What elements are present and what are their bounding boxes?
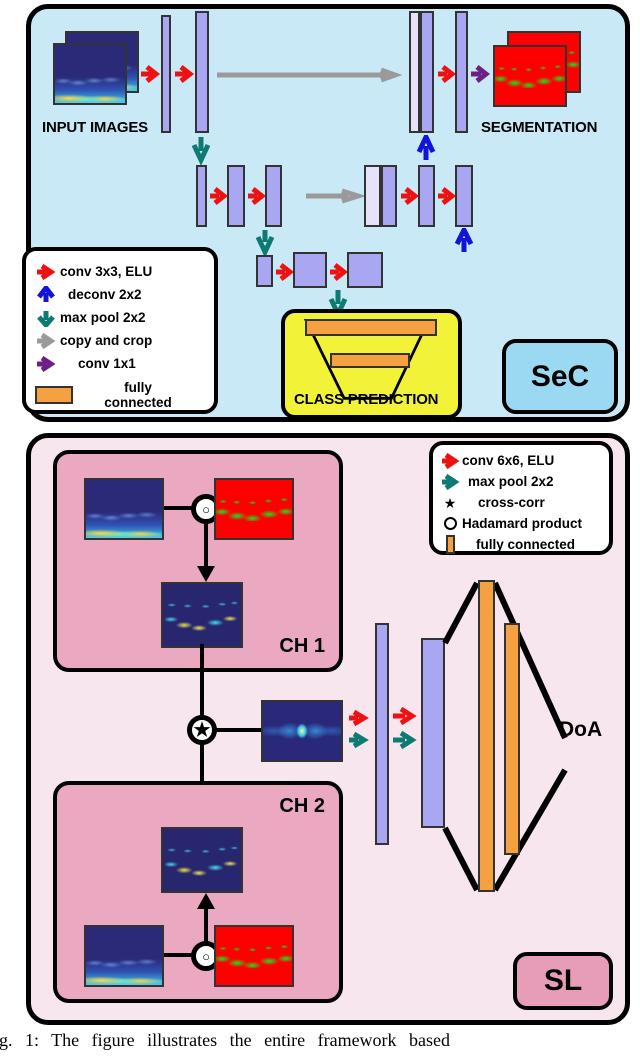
sl-conv-arrow-2 bbox=[391, 706, 421, 756]
channel-1-label: CH 1 bbox=[279, 635, 325, 658]
teal-arrow-right-icon bbox=[438, 474, 462, 490]
sec-legend: conv 3x3, ELU deconv 2x2 max pool 2x2 co… bbox=[22, 247, 218, 414]
legend-label-sl-maxpool: max pool 2x2 bbox=[462, 474, 554, 489]
sl-tag: SL bbox=[513, 952, 613, 1010]
feature-bar-e2a bbox=[196, 165, 207, 227]
input-image-front bbox=[53, 43, 127, 105]
ch1-segmentation-mask bbox=[214, 478, 294, 540]
feature-bar-e2c bbox=[265, 165, 282, 227]
copy-crop-arrow-2 bbox=[304, 188, 364, 204]
feature-bar-d2b bbox=[381, 165, 397, 227]
legend-row-copycrop: copy and crop bbox=[32, 329, 206, 352]
figure-caption: ig. 1: The figure illustrates the entire… bbox=[0, 1030, 640, 1051]
crosscorr-image bbox=[261, 700, 343, 762]
legend-row-fc: fully connected bbox=[32, 375, 206, 415]
star-icon: ★ bbox=[438, 496, 462, 510]
ch1-input-spectrogram bbox=[84, 478, 164, 540]
legend-row-crosscorr: ★ cross-corr bbox=[438, 492, 603, 513]
legend-row-conv6x6: conv 6x6, ELU bbox=[438, 450, 603, 471]
maxpool-arrow-2 bbox=[255, 228, 275, 256]
channel-2-label: CH 2 bbox=[279, 795, 325, 818]
sl-feature-bar-1 bbox=[375, 623, 389, 845]
figure-caption-text: ig. 1: The figure illustrates the entire… bbox=[0, 1030, 634, 1051]
circle-icon bbox=[438, 517, 462, 530]
orange-rect-icon bbox=[32, 386, 76, 404]
legend-label-conv1x1: conv 1x1 bbox=[60, 356, 136, 371]
legend-row-sl-fc: fully connected bbox=[438, 534, 603, 555]
legend-label-hadamard: Hadamard product bbox=[462, 516, 582, 531]
segmentation-label: SEGMENTATION bbox=[481, 119, 597, 136]
figure-root: INPUT IMAGES SEGMENTATION bbox=[0, 0, 640, 1059]
maxpool-arrow-1 bbox=[191, 135, 211, 165]
doa-connector-lines bbox=[439, 578, 624, 908]
legend-label-conv3x3: conv 3x3, ELU bbox=[60, 264, 152, 279]
deconv-arrow-1 bbox=[416, 135, 436, 165]
doa-fc-layer-1 bbox=[478, 580, 495, 892]
feature-bar-e2b bbox=[227, 165, 245, 227]
legend-row-conv3x3: conv 3x3, ELU bbox=[32, 260, 206, 283]
channel-2-box: CH 2 ○ bbox=[53, 781, 343, 1003]
legend-row-conv1x1: conv 1x1 bbox=[32, 352, 206, 375]
feature-bar-e1a bbox=[161, 15, 171, 133]
purple-arrow-right-icon bbox=[32, 356, 60, 372]
legend-row-hadamard: Hadamard product bbox=[438, 513, 603, 534]
feature-bar-d2a bbox=[364, 165, 381, 227]
sec-tag-label: SeC bbox=[531, 360, 589, 394]
fc-layer-2 bbox=[330, 353, 410, 368]
feature-bar-d2c bbox=[418, 165, 435, 227]
feature-bar-e1b bbox=[195, 11, 209, 133]
legend-label-maxpool: max pool 2x2 bbox=[60, 310, 146, 325]
feature-bar-d1a bbox=[409, 11, 420, 133]
legend-label-deconv: deconv 2x2 bbox=[60, 287, 142, 302]
legend-row-maxpool: max pool 2x2 bbox=[32, 306, 206, 329]
conv-arrow-5 bbox=[246, 187, 266, 205]
legend-label-conv6x6: conv 6x6, ELU bbox=[462, 453, 554, 468]
feature-bar-d2d bbox=[455, 165, 473, 227]
legend-row-sl-maxpool: max pool 2x2 bbox=[438, 471, 603, 492]
conv-arrow-7 bbox=[436, 187, 456, 205]
class-prediction-label: CLASS PREDICTION bbox=[294, 391, 438, 408]
fc-layer-1 bbox=[305, 319, 437, 336]
sec-tag: SeC bbox=[502, 339, 618, 414]
red-arrow-right-icon bbox=[32, 264, 60, 280]
crosscorr-symbol: ★ bbox=[193, 719, 210, 742]
ch2-input-spectrogram bbox=[84, 925, 164, 987]
conv-arrow-8 bbox=[274, 263, 294, 281]
segmentation-image-front bbox=[493, 45, 567, 107]
copy-crop-arrow-1 bbox=[215, 67, 405, 83]
conv-arrow-6 bbox=[399, 187, 419, 205]
sl-conv-arrow-1 bbox=[347, 708, 373, 756]
ch1-product-image bbox=[161, 582, 243, 648]
feature-bar-b2 bbox=[293, 252, 327, 288]
hadamard-symbol: ○ bbox=[202, 949, 210, 964]
ch2-segmentation-mask bbox=[214, 925, 294, 987]
orange-rect-icon bbox=[438, 535, 462, 554]
channel-1-box: ○ CH 1 bbox=[53, 450, 343, 672]
doa-label: DoA bbox=[559, 718, 602, 742]
ch2-product-image bbox=[161, 827, 243, 893]
legend-label-sl-fc: fully connected bbox=[462, 537, 575, 552]
conv-arrow-9 bbox=[328, 263, 348, 281]
conv-arrow-2 bbox=[173, 65, 195, 83]
deconv-arrow-2 bbox=[454, 228, 474, 256]
crosscorr-out-line bbox=[215, 728, 263, 732]
gray-arrow-right-icon bbox=[32, 333, 60, 349]
conv-arrow-3 bbox=[436, 65, 456, 83]
doa-fc-layer-2 bbox=[504, 623, 520, 855]
feature-bar-b1 bbox=[256, 255, 273, 287]
legend-label-copycrop: copy and crop bbox=[60, 333, 152, 348]
feature-bar-d1c bbox=[455, 11, 468, 133]
input-images-label: INPUT IMAGES bbox=[42, 119, 148, 136]
conv-arrow-4 bbox=[208, 187, 228, 205]
red-arrow-right-icon bbox=[438, 453, 462, 469]
feature-bar-b3 bbox=[347, 252, 383, 288]
legend-label-crosscorr: cross-corr bbox=[462, 495, 545, 510]
legend-row-deconv: deconv 2x2 bbox=[32, 283, 206, 306]
crosscorr-node: ★ bbox=[187, 715, 217, 745]
conv1x1-arrow bbox=[469, 65, 491, 83]
sl-legend: conv 6x6, ELU max pool 2x2 ★ cross-corr … bbox=[429, 441, 613, 555]
legend-label-fc: fully connected bbox=[76, 380, 186, 410]
sl-tag-label: SL bbox=[544, 964, 582, 998]
teal-arrow-down-icon bbox=[32, 309, 60, 327]
blue-arrow-up-icon bbox=[32, 286, 60, 304]
class-prediction-box: CLASS PREDICTION bbox=[281, 309, 462, 419]
feature-bar-d1b bbox=[420, 11, 434, 133]
hadamard-symbol: ○ bbox=[202, 502, 210, 517]
conv-arrow-1 bbox=[139, 65, 161, 83]
